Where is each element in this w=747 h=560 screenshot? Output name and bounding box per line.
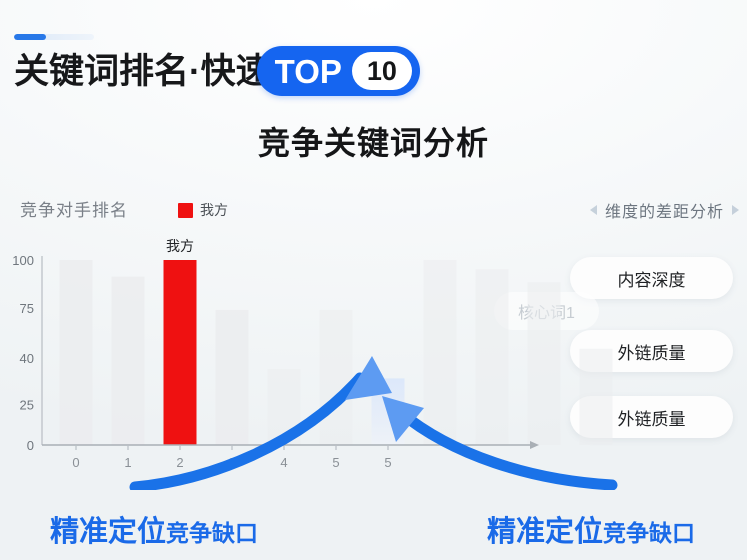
x-tick-label: 0 — [72, 455, 79, 470]
dimension-panel-header: 维度的差距分析 — [590, 198, 739, 222]
caption-right-strong: 精准定位 — [487, 508, 603, 550]
bar — [60, 260, 93, 445]
y-tick-label: 25 — [20, 397, 34, 412]
top-badge: TOP 10 — [257, 46, 420, 96]
headline-title: 关键词排名·快速 — [14, 54, 271, 89]
x-tick-label: 2 — [176, 455, 183, 470]
top-badge-label: TOP — [275, 55, 342, 88]
y-tick-label: 0 — [27, 438, 34, 453]
chart-legend: 我方 — [178, 200, 228, 220]
chart-title: 竞争对手排名 — [20, 196, 128, 221]
caption-left-strong: 精准定位 — [50, 508, 166, 550]
bar — [112, 277, 145, 445]
x-tick-label: 1 — [124, 455, 131, 470]
top-badge-number: 10 — [352, 52, 412, 90]
x-tick-label: 5 — [384, 455, 391, 470]
highlight-bar-label: 我方 — [166, 238, 194, 254]
caption-left: 精准定位 竞争缺口 — [50, 508, 258, 550]
triangle-left-icon — [590, 205, 597, 215]
bar-series — [60, 260, 613, 445]
bar-highlight — [164, 260, 197, 445]
caption-right-weak: 竞争缺口 — [603, 514, 695, 548]
infographic-root: 关键词排名·快速 TOP 10 竞争关键词分析 竞争对手排名 我方 维度的差距分… — [0, 0, 747, 560]
y-tick-label: 75 — [20, 301, 34, 316]
triangle-right-icon — [732, 205, 739, 215]
progress-bar-fill — [14, 34, 46, 40]
headline: 关键词排名·快速 TOP 10 — [14, 44, 420, 98]
caption-right: 精准定位 竞争缺口 — [487, 508, 695, 550]
bar — [580, 349, 613, 445]
y-axis: 1007540250 — [12, 253, 42, 453]
bar — [320, 310, 353, 445]
x-tick-label: 5 — [332, 455, 339, 470]
dimension-panel-title: 维度的差距分析 — [605, 198, 724, 222]
bar — [424, 260, 457, 445]
bar — [216, 310, 249, 445]
legend-label: 我方 — [200, 200, 228, 220]
y-tick-label: 40 — [20, 351, 34, 366]
page-subtitle: 竞争关键词分析 — [0, 118, 747, 164]
bar — [476, 269, 509, 445]
legend-color-swatch — [178, 203, 193, 218]
bar — [528, 282, 561, 445]
caption-left-weak: 竞争缺口 — [166, 514, 258, 548]
y-tick-label: 100 — [12, 253, 34, 268]
x-tick-label: 4 — [280, 455, 287, 470]
bar-chart: 1007540250 0123455 我方 — [0, 230, 747, 490]
progress-bar-decoration — [14, 34, 94, 40]
